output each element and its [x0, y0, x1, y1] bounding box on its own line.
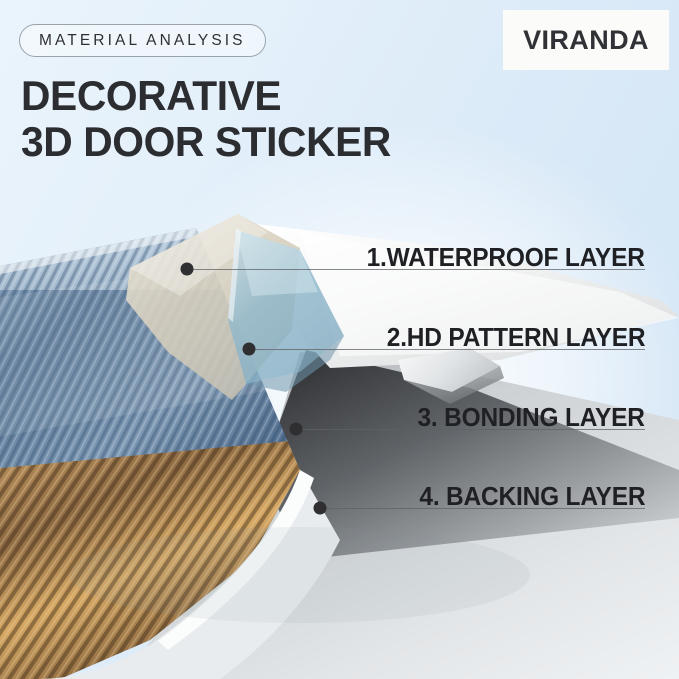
brand-logo: VIRANDA — [503, 10, 669, 70]
callout-dot-3 — [290, 423, 303, 436]
page-title-line1: DECORATIVE — [21, 75, 281, 117]
callout-dot-2 — [243, 343, 256, 356]
infographic-canvas: MATERIAL ANALYSIS DECORATIVE 3D DOOR STI… — [0, 0, 679, 679]
brand-logo-text: VIRANDA — [523, 25, 649, 56]
eyebrow-text: MATERIAL ANALYSIS — [39, 32, 246, 50]
eyebrow-badge: MATERIAL ANALYSIS — [19, 24, 266, 57]
layer-label-4: 4. BACKING LAYER — [419, 483, 645, 512]
callout-dot-4 — [314, 502, 327, 515]
layer-label-3: 3. BONDING LAYER — [418, 404, 645, 433]
layer-label-1: 1.WATERPROOF LAYER — [367, 244, 645, 273]
layer-label-2: 2.HD PATTERN LAYER — [386, 324, 645, 353]
page-title-line2: 3D DOOR STICKER — [21, 121, 391, 163]
callout-dot-1 — [181, 263, 194, 276]
